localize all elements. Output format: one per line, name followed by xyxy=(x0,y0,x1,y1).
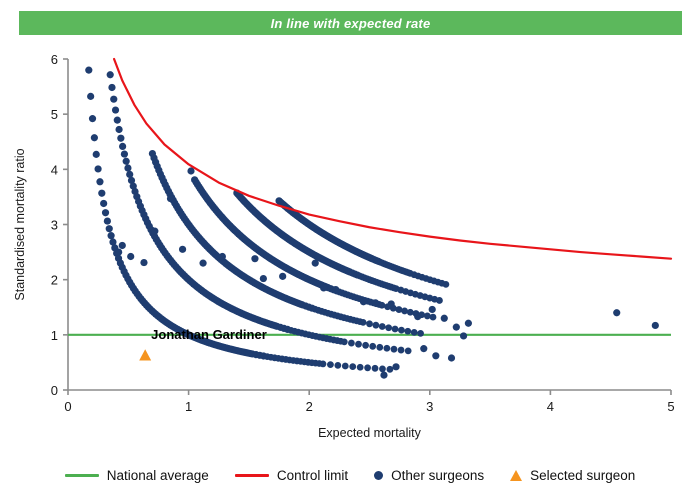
data-point xyxy=(327,361,334,368)
chart-container: 0123456012345Expected mortalityStandardi… xyxy=(0,40,700,455)
data-point xyxy=(362,342,369,349)
data-point xyxy=(115,248,122,255)
legend-item-label: National average xyxy=(107,468,209,483)
data-point xyxy=(385,324,392,331)
data-point xyxy=(420,345,427,352)
data-point xyxy=(405,347,412,354)
data-point xyxy=(219,253,226,260)
data-point xyxy=(360,319,367,326)
x-tick-label: 5 xyxy=(667,399,674,414)
data-point xyxy=(119,143,126,150)
funnel-plot-page: In line with expected rate 0123456012345… xyxy=(0,0,700,500)
data-point xyxy=(407,309,414,316)
legend-line-swatch xyxy=(65,474,99,477)
data-point xyxy=(107,71,114,78)
data-point xyxy=(89,115,96,122)
data-point xyxy=(121,150,128,157)
data-point xyxy=(140,259,147,266)
data-point xyxy=(115,126,122,133)
data-point xyxy=(94,165,101,172)
data-point xyxy=(379,302,386,309)
x-tick-label: 1 xyxy=(185,399,192,414)
data-point xyxy=(453,324,460,331)
data-point xyxy=(320,284,327,291)
data-point xyxy=(349,363,356,370)
chart-legend: National averageControl limitOther surge… xyxy=(0,455,700,495)
data-point xyxy=(424,313,431,320)
data-point xyxy=(401,308,408,315)
data-point xyxy=(167,195,174,202)
data-point xyxy=(108,232,115,239)
x-tick-label: 0 xyxy=(64,399,71,414)
data-point xyxy=(342,363,349,370)
control-limit-curve xyxy=(114,59,671,259)
funnel-plot-svg: 0123456012345Expected mortalityStandardi… xyxy=(0,40,700,455)
data-point xyxy=(372,322,379,329)
data-point xyxy=(396,306,403,313)
data-point xyxy=(260,275,267,282)
data-point xyxy=(417,330,424,337)
data-point xyxy=(429,306,436,313)
data-point xyxy=(404,328,411,335)
data-point xyxy=(460,332,467,339)
data-point xyxy=(91,134,98,141)
data-point xyxy=(360,298,367,305)
data-point xyxy=(391,346,398,353)
data-point xyxy=(369,343,376,350)
y-tick-label: 1 xyxy=(51,328,58,343)
x-tick-label: 4 xyxy=(547,399,554,414)
data-point xyxy=(334,362,341,369)
data-point xyxy=(106,225,113,232)
legend-national-average[interactable]: National average xyxy=(65,468,209,483)
data-point xyxy=(372,365,379,372)
data-point xyxy=(398,327,405,334)
legend-dot-swatch xyxy=(374,471,383,480)
status-banner: In line with expected rate xyxy=(19,11,682,35)
legend-selected-surgeon[interactable]: Selected surgeon xyxy=(510,468,635,483)
status-banner-title: In line with expected rate xyxy=(271,16,431,31)
data-point xyxy=(332,286,339,293)
data-point xyxy=(123,158,130,165)
data-point xyxy=(251,255,258,262)
y-axis-label: Standardised mortality ratio xyxy=(13,148,27,300)
x-axis-label: Expected mortality xyxy=(318,426,422,440)
data-point xyxy=(380,372,387,379)
legend-item-label: Control limit xyxy=(277,468,348,483)
data-point xyxy=(448,354,455,361)
data-point xyxy=(114,117,121,124)
legend-other-surgeons[interactable]: Other surgeons xyxy=(374,468,484,483)
selected-surgeon-marker[interactable] xyxy=(139,349,151,360)
legend-line-swatch xyxy=(235,474,269,477)
data-point xyxy=(85,67,92,74)
data-point xyxy=(127,253,134,260)
data-point xyxy=(112,106,119,113)
data-point xyxy=(119,242,126,249)
data-point xyxy=(98,190,105,197)
selected-surgeon-label: Jonathan Gardiner xyxy=(151,327,267,342)
data-point xyxy=(613,309,620,316)
data-point xyxy=(87,93,94,100)
data-point xyxy=(108,84,115,91)
data-point xyxy=(341,338,348,345)
data-point xyxy=(96,178,103,185)
data-point xyxy=(414,313,421,320)
x-tick-label: 2 xyxy=(306,399,313,414)
data-point xyxy=(102,209,109,216)
data-point xyxy=(348,340,355,347)
data-point xyxy=(366,320,373,327)
data-point xyxy=(279,273,286,280)
data-point xyxy=(355,341,362,348)
data-point xyxy=(364,364,371,371)
y-tick-label: 0 xyxy=(51,383,58,398)
data-point xyxy=(652,322,659,329)
data-point xyxy=(357,364,364,371)
data-point xyxy=(110,96,117,103)
y-tick-label: 3 xyxy=(51,218,58,233)
data-point xyxy=(117,135,124,142)
data-point xyxy=(100,200,107,207)
data-point xyxy=(443,281,450,288)
data-point xyxy=(436,297,443,304)
data-point xyxy=(179,246,186,253)
data-point xyxy=(465,320,472,327)
data-point xyxy=(379,365,386,372)
data-point xyxy=(320,361,327,368)
y-tick-label: 6 xyxy=(51,52,58,67)
data-point xyxy=(430,314,437,321)
y-tick-label: 4 xyxy=(51,162,58,177)
legend-control-limit[interactable]: Control limit xyxy=(235,468,348,483)
data-point xyxy=(93,151,100,158)
y-tick-label: 2 xyxy=(51,273,58,288)
data-point xyxy=(441,315,448,322)
legend-item-label: Selected surgeon xyxy=(530,468,635,483)
data-point xyxy=(388,300,395,307)
x-tick-label: 3 xyxy=(426,399,433,414)
data-point xyxy=(383,345,390,352)
data-point xyxy=(124,164,131,171)
data-point xyxy=(379,323,386,330)
data-point xyxy=(392,326,399,333)
data-point xyxy=(372,299,379,306)
data-point xyxy=(151,228,158,235)
data-point xyxy=(387,366,394,373)
data-point xyxy=(398,347,405,354)
legend-item-label: Other surgeons xyxy=(391,468,484,483)
data-point xyxy=(411,329,418,336)
legend-triangle-swatch xyxy=(510,470,522,481)
data-point xyxy=(312,260,319,267)
data-point xyxy=(432,352,439,359)
data-point xyxy=(104,217,111,224)
data-point xyxy=(392,363,399,370)
data-point xyxy=(199,260,206,267)
data-point xyxy=(376,344,383,351)
y-tick-label: 5 xyxy=(51,107,58,122)
